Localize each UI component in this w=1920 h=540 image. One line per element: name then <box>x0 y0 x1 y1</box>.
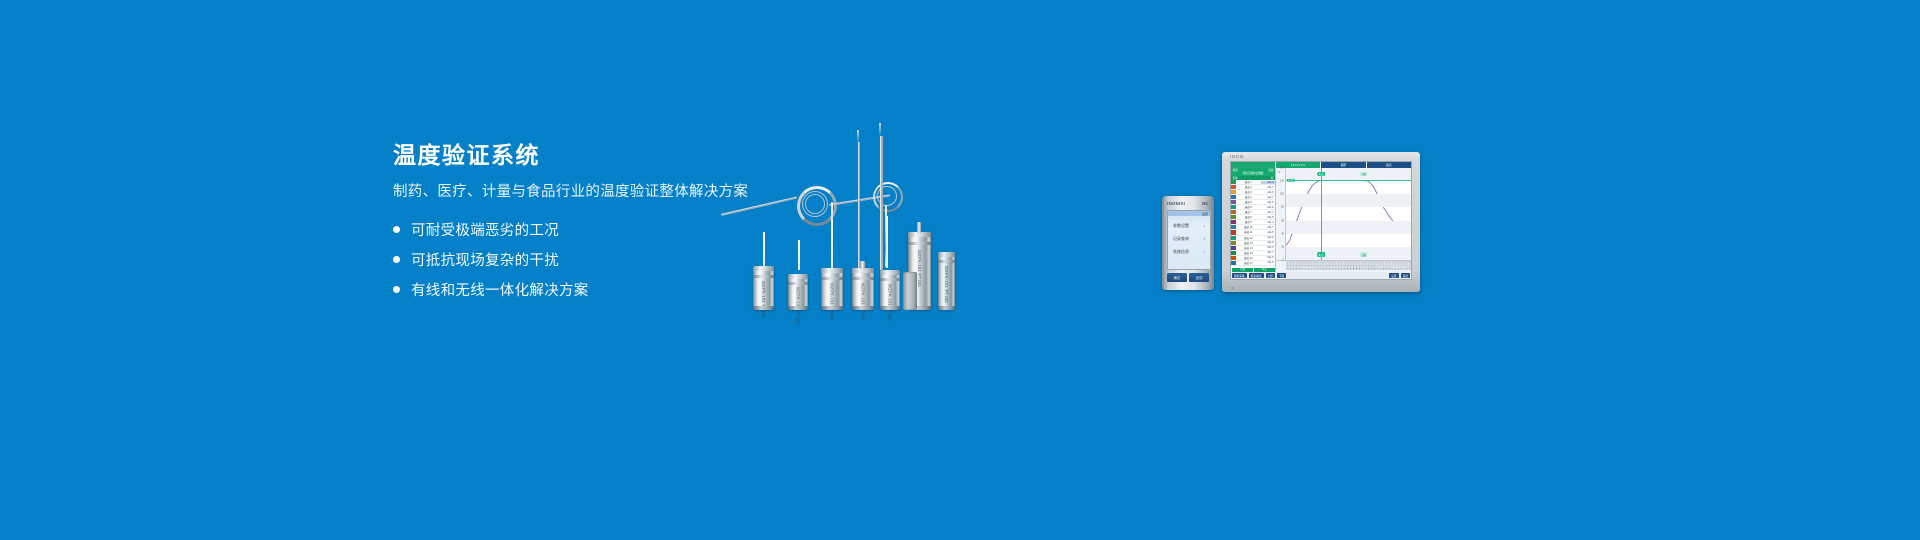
handheld-brand-label: INONIKI <box>1167 201 1186 206</box>
sintered-filter-accessory <box>903 272 917 310</box>
channel-data-table: 通道 温度 湿热灭菌验证数据 名称 值 通道 1121.4通道 2121.7通道… <box>1231 168 1276 272</box>
channel-name-cell: 通道 4 <box>1236 195 1261 199</box>
bullet-dot-icon <box>393 286 400 293</box>
handheld-back-button[interactable]: 返回 <box>1189 273 1209 282</box>
chart-cursor-line[interactable] <box>1321 168 1322 260</box>
logger-base <box>880 306 900 310</box>
logger-band <box>880 278 900 281</box>
logger-label: WZPK-191 PT100 <box>917 250 922 287</box>
data-logger: WZPK-191 PT100 <box>852 268 874 310</box>
channel-value-cell: 121.7 <box>1261 226 1276 229</box>
logger-band <box>821 277 843 280</box>
logger-cap <box>788 274 808 279</box>
channel-value-cell: 121.8 <box>1261 241 1276 244</box>
logger-cap <box>880 270 900 275</box>
power-led-icon <box>1231 287 1234 290</box>
bullet-dot-icon <box>393 226 400 233</box>
logger-label: WZPK-191 PT100 <box>944 266 949 303</box>
chart-grid-band <box>1286 247 1411 260</box>
chart-grid-band <box>1286 168 1411 181</box>
chart-y-tick: 80 <box>1281 206 1284 209</box>
chart-y-tick: 20 <box>1281 245 1284 248</box>
channel-name-cell: 通道 16 <box>1236 256 1261 260</box>
software-body: 通道 温度 湿热灭菌验证数据 名称 值 通道 1121.4通道 2121.7通道… <box>1231 168 1411 272</box>
logger-label: WZPK-191 PT100 <box>861 283 866 320</box>
logger-base <box>938 306 955 310</box>
software-screen: F1-121.1°C 图形 报表 通道 温度 湿热灭菌验证数据 名称 值 通 <box>1230 161 1412 280</box>
logger-cap <box>821 268 843 273</box>
collect-data-button[interactable]: 数据采集 <box>1232 273 1247 279</box>
upper-limit-button[interactable]: 上限 <box>1266 273 1275 279</box>
handheld-menu-label: 系统信息 <box>1173 249 1189 255</box>
settings-button[interactable]: 设置 <box>1389 273 1398 279</box>
hero-banner: 温度验证系统 制药、医疗、计量与食品行业的温度验证整体解决方案 可耐受极端恶劣的… <box>0 0 1920 540</box>
bullet-dot-icon <box>393 256 400 263</box>
channel-value-cell: 121.6 <box>1261 216 1276 219</box>
chart-y-tick: 140 <box>1280 167 1284 170</box>
channel-value-cell: 121.3 <box>1261 246 1276 249</box>
chart-y-tick: 0 <box>1283 259 1284 262</box>
table-row[interactable]: 通道 17121.6 <box>1231 261 1275 266</box>
channel-name-cell: 通道 12 <box>1236 236 1261 240</box>
chart-marker-lower-limit: 上限 <box>1360 252 1368 257</box>
chevron-right-icon: › <box>1204 236 1205 242</box>
data-logger: WZPK-191 PT100 <box>788 274 808 310</box>
logger-label: WZPK-191 PT100 <box>761 281 766 318</box>
data-logger: WZPK-191 PT100 <box>821 268 843 310</box>
channel-name-cell: 通道 7 <box>1236 210 1261 214</box>
channel-name-cell: 通道 15 <box>1236 251 1261 255</box>
exit-button[interactable]: 退出 <box>1401 273 1410 279</box>
logger-band <box>908 242 931 245</box>
handheld-model-label: M1 <box>1202 201 1208 206</box>
handheld-menu-item[interactable]: 系统信息 › <box>1168 249 1210 255</box>
monitor-brand-label: INON <box>1230 154 1244 159</box>
handheld-menu-item[interactable]: 参数设置 › <box>1168 223 1210 229</box>
export-report-button[interactable]: 报表输出 <box>1249 273 1264 279</box>
logger-nub <box>917 222 921 233</box>
channel-value-cell: 121.4 <box>1261 221 1276 224</box>
chevron-right-icon: › <box>1204 223 1205 229</box>
channel-name-cell: 通道 6 <box>1236 205 1261 209</box>
chart-y-tick: 100 <box>1280 193 1284 196</box>
channel-value-cell: 121.8 <box>1261 206 1276 209</box>
logger-cap <box>938 252 955 257</box>
chart-grid-band <box>1286 221 1411 234</box>
chart-x-axis: 00:00:0000:00:0200:00:0400:00:0600:00:08… <box>1276 260 1411 272</box>
logger-band <box>852 277 874 280</box>
feature-label: 可耐受极端恶劣的工况 <box>411 219 559 240</box>
channel-value-cell: 121.6 <box>1261 236 1276 239</box>
logger-label: WZPK-191 PT100 <box>888 284 893 321</box>
data-logger: WZPK-191 PT100 <box>880 270 900 310</box>
chart-y-tick: 120 <box>1280 180 1284 183</box>
channel-value-cell: 121.5 <box>1261 256 1276 259</box>
handheld-button-row: 确定 返回 <box>1167 273 1209 282</box>
channel-name-cell: 通道 1 <box>1236 180 1261 184</box>
chart-marker-b[interactable]: B 点 <box>1317 252 1325 257</box>
handheld-confirm-button[interactable]: 确定 <box>1167 273 1187 282</box>
feature-label: 可抵抗现场复杂的干扰 <box>411 249 559 270</box>
chart-limit-tag: 121.0 <box>1287 179 1295 182</box>
channel-value-cell: 121.7 <box>1261 196 1276 199</box>
monitor-display: INON F1-121.1°C 图形 报表 通道 温度 湿热灭菌验证数据 <box>1222 152 1420 292</box>
chart-y-axis-label: ℃ <box>1278 171 1281 174</box>
lower-limit-button[interactable]: 下限 <box>1277 273 1286 279</box>
channel-name-cell: 通道 17 <box>1236 261 1261 265</box>
chart-limit-line <box>1286 180 1411 181</box>
sensor-cable <box>763 232 765 266</box>
toolbar-spacer <box>1287 272 1388 279</box>
channel-value-cell: 121.6 <box>1261 191 1276 194</box>
logger-band <box>788 282 808 285</box>
channel-name-cell: 通道 8 <box>1236 215 1261 219</box>
channel-value-cell: 121.7 <box>1261 186 1276 189</box>
chart-row: ℃ 020406080100120140 121.0A 点B 点上限上限 <box>1276 168 1411 260</box>
handheld-reader-device: INONIKI M1 设置 参数设置 › 记录查询 › 系统信息 › 确定 返回 <box>1162 196 1214 290</box>
channel-value-cell: 121.5 <box>1261 231 1276 234</box>
chart-marker-upper-limit: 上限 <box>1360 172 1368 177</box>
logger-base <box>852 306 874 310</box>
chart-y-tick: 60 <box>1281 219 1284 222</box>
channel-value-cell: 121.7 <box>1261 211 1276 214</box>
chart-y-axis: ℃ 020406080100120140 <box>1276 168 1286 260</box>
logger-band <box>753 275 774 278</box>
handheld-screen: 设置 参数设置 › 记录查询 › 系统信息 › <box>1167 210 1211 270</box>
chart-pane: ℃ 020406080100120140 121.0A 点B 点上限上限 00:… <box>1276 168 1411 272</box>
datatable-rows: 通道 1121.4通道 2121.7通道 3121.6通道 4121.7通道 5… <box>1231 180 1275 268</box>
channel-name-cell: 通道 11 <box>1236 230 1261 234</box>
product-photo-group: WZPK-191 PT100 WZPK-191 PT100 WZPK-191 P… <box>705 120 1225 320</box>
sensor-cable <box>886 216 888 268</box>
chevron-right-icon: › <box>1204 249 1205 255</box>
logger-base <box>821 306 843 310</box>
chart-plot-area: 121.0A 点B 点上限上限 <box>1286 168 1411 260</box>
logger-cap <box>753 266 774 271</box>
software-bottombar: 数据采集 报表输出 上限 下限 设置 退出 <box>1231 272 1411 279</box>
chart-line-series <box>1286 180 1411 245</box>
chart-marker-a[interactable]: A 点 <box>1317 172 1325 177</box>
channel-name-cell: 通道 9 <box>1236 220 1261 224</box>
channel-name-cell: 通道 13 <box>1236 241 1261 245</box>
channel-value-cell: 121.6 <box>1261 261 1276 264</box>
chart-y-tick: 40 <box>1281 232 1284 235</box>
channel-name-cell: 通道 2 <box>1236 185 1261 189</box>
chart-grid-band <box>1286 194 1411 207</box>
channel-name-cell: 通道 3 <box>1236 190 1261 194</box>
feature-label: 有线和无线一体化解决方案 <box>411 279 589 300</box>
data-logger: WZPK-191 PT100 <box>753 266 774 310</box>
handheld-menu-item[interactable]: 记录查询 › <box>1168 236 1210 242</box>
data-logger: WZPK-191 PT100 <box>938 252 955 310</box>
handheld-menu-label: 记录查询 <box>1173 236 1189 242</box>
sensor-cable <box>831 220 833 268</box>
logger-label: WZPK-191 PT100 <box>830 283 835 320</box>
channel-value-cell: 121.7 <box>1261 251 1276 254</box>
channel-name-cell: 通道 10 <box>1236 225 1261 229</box>
sensor-cable <box>798 240 800 270</box>
handheld-screen-header: 设置 <box>1168 211 1210 216</box>
channel-value-cell: 121.5 <box>1261 201 1276 204</box>
logger-band <box>938 260 955 263</box>
channel-value-cell: 121.4 <box>1261 181 1276 184</box>
logger-base <box>753 306 774 310</box>
channel-name-cell: 通道 5 <box>1236 200 1261 204</box>
logger-nub <box>860 261 865 269</box>
channel-name-cell: 通道 14 <box>1236 246 1261 250</box>
handheld-menu-label: 参数设置 <box>1173 223 1189 229</box>
logger-base <box>788 306 808 310</box>
handheld-header-label: 设置 <box>1202 212 1208 216</box>
